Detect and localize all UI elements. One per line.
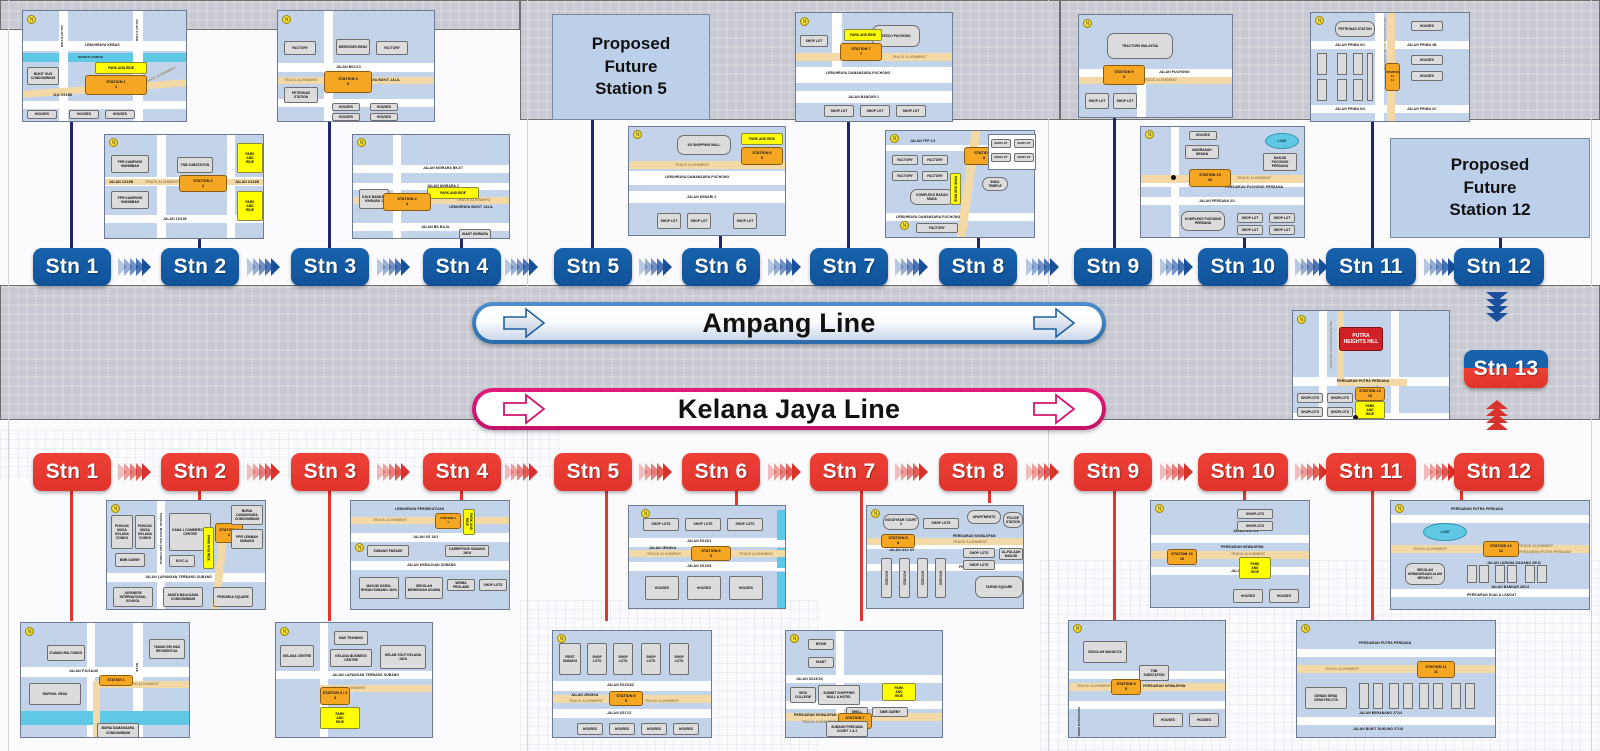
station-badge-top-4[interactable]: Stn 4 bbox=[423, 248, 501, 286]
drop-line-bottom-11 bbox=[1371, 491, 1374, 621]
map-panel-bottom-station-5[interactable]: JALAN SS15/4D JALAN JENGKA TRACK ALIGNME… bbox=[552, 630, 712, 738]
map-label: JALAN 3/116B bbox=[60, 25, 64, 47]
future-line-1: Proposed bbox=[592, 33, 670, 56]
future-line-2: Future bbox=[592, 56, 670, 79]
north-compass-icon: N bbox=[1297, 315, 1306, 324]
drop-line-top-4 bbox=[460, 239, 463, 248]
station-box: STATION 4 4 bbox=[383, 193, 431, 211]
column-separator-2 bbox=[1048, 0, 1049, 751]
map-label: PERSIARAN PUTRA PERDANA bbox=[1451, 507, 1503, 511]
houses-box: HOUSES bbox=[1189, 713, 1219, 727]
north-compass-icon: N bbox=[1315, 16, 1324, 25]
station-badge-top-7[interactable]: Stn 7 bbox=[810, 248, 888, 286]
drop-line-bottom-1 bbox=[70, 491, 73, 621]
shop-lot-box: SHOP LOT bbox=[896, 105, 926, 117]
future-line-2: Future bbox=[1449, 177, 1530, 200]
station-box: STATION 6 6 bbox=[691, 546, 731, 561]
map-label: TRACK ALIGNMENT bbox=[1077, 684, 1111, 688]
river-sungai bbox=[23, 53, 187, 62]
station-badge-top-10[interactable]: Stn 10 bbox=[1198, 248, 1288, 286]
north-compass-icon: N bbox=[355, 543, 364, 552]
building-box: KOMPLEKS RAKAN MUDA bbox=[910, 189, 954, 205]
map-label: TRACK ALIGNMENT bbox=[373, 518, 407, 522]
park-and-ride-box: PARK AND RIDE bbox=[463, 509, 475, 535]
lake-box: LAKE bbox=[1423, 523, 1467, 541]
station-number: 10 bbox=[1208, 178, 1212, 183]
shoplots-box: SHOPLOTS bbox=[1237, 509, 1273, 519]
factory-box: FACTORY bbox=[916, 223, 958, 233]
park-and-ride-box: PARK AND RIDE bbox=[882, 683, 916, 701]
drop-line-top-9 bbox=[1113, 118, 1116, 248]
north-compass-icon: N bbox=[790, 634, 799, 643]
north-compass-icon: N bbox=[890, 134, 899, 143]
ampang-line-banner[interactable]: Ampang Line bbox=[472, 302, 1106, 344]
map-label: TRACK ALIGNMENT bbox=[569, 699, 603, 703]
page-right-border bbox=[1591, 0, 1592, 751]
connector-chevrons-stn13-up bbox=[1486, 400, 1508, 428]
north-compass-icon: N bbox=[282, 15, 291, 24]
drop-line-top-10 bbox=[1243, 238, 1246, 248]
building-box: INDIA TEMPLE bbox=[982, 177, 1008, 191]
hill-line-2: HEIGHTS HILL bbox=[1344, 339, 1379, 345]
building-box: SEGI COLLEGE bbox=[790, 687, 816, 703]
station-badge-top-1[interactable]: Stn 1 bbox=[33, 248, 111, 286]
map-label: JALAN SS 18/1 bbox=[413, 535, 439, 539]
map-label: JALAN LAPANGAN TERBANG SUBANG bbox=[332, 673, 399, 677]
station-badge-bottom-10[interactable]: Stn 10 bbox=[1198, 453, 1288, 491]
station-number: 10 bbox=[1180, 557, 1184, 562]
building-box: KELANA CENTRE bbox=[280, 645, 314, 667]
north-compass-icon: N bbox=[25, 627, 34, 636]
shop-lot-box: SHOP LOT bbox=[991, 139, 1011, 148]
drop-line-bottom-7 bbox=[860, 491, 863, 621]
shop-lot-box: SHOP LOT bbox=[1014, 139, 1034, 148]
north-compass-icon: N bbox=[1395, 504, 1404, 513]
station-number: 9 bbox=[1125, 687, 1127, 692]
station-badge-bottom-3[interactable]: Stn 3 bbox=[291, 453, 369, 491]
houses-box: HOUSES bbox=[1411, 55, 1443, 65]
map-label: NKVE bbox=[135, 663, 139, 672]
shop-lots-box: SHOP LOTS bbox=[685, 518, 721, 531]
houses-box: HOUSES bbox=[370, 113, 398, 121]
map-label: JALAN KEMAJUAN SUBANG bbox=[407, 563, 456, 567]
station-label: STATION 1 bbox=[107, 678, 124, 682]
building-box: KOMPLEKS PUCHONG PERDANA bbox=[1181, 211, 1225, 231]
drop-line-top-8 bbox=[977, 238, 980, 248]
shop-lot-box: SHOP LOT bbox=[1269, 213, 1295, 223]
building-box: PEROMSA SQUARE bbox=[213, 587, 253, 607]
map-label: JALAN BANDAR 1 bbox=[848, 95, 879, 99]
map-label: PERSIARAN KEWAJIPAN bbox=[1221, 545, 1264, 549]
park-and-ride-box: PARK AND RIDE bbox=[741, 133, 783, 145]
map-label: TRACK ALIGNMENT bbox=[892, 55, 926, 59]
park-and-ride-box: PARK AND RIDE bbox=[1355, 401, 1385, 419]
station-box: STATION 7 7 bbox=[840, 43, 882, 61]
map-label: JALAN KINRARA BK2/7 bbox=[423, 166, 463, 170]
map-label: JALAN 1/116B bbox=[135, 19, 139, 41]
shop-lot-box: SHOP LOT bbox=[824, 105, 854, 117]
station-number: 13 bbox=[1368, 394, 1372, 399]
map-label: TRACK ALIGNMENT bbox=[953, 540, 987, 544]
station-badge-top-5[interactable]: Stn 5 bbox=[554, 248, 632, 286]
map-panel-top-station-2[interactable]: JALAN 4/116B TRACK ALIGNMENT JALAN 4/116… bbox=[104, 134, 264, 239]
drop-line-bottom-6 bbox=[735, 491, 738, 506]
right-arrow-icon bbox=[502, 392, 546, 426]
water-strip bbox=[777, 510, 786, 540]
factory-box: FACTORY bbox=[922, 155, 948, 165]
map-panel-station-13[interactable]: PERSIARAN PUTRA PERDANA PERSIARAN PUTRA … bbox=[1292, 310, 1450, 420]
future-line-3: Station 5 bbox=[592, 78, 670, 101]
map-label: JALAN 4/116B bbox=[235, 180, 259, 184]
map-label: TRACK ALIGNMENT bbox=[1325, 667, 1359, 671]
station-badge-bottom-2[interactable]: Stn 2 bbox=[161, 453, 239, 491]
connector-chevrons-top-1-2 bbox=[118, 258, 148, 276]
drop-line-top-5 bbox=[591, 120, 594, 248]
station-number: 3 bbox=[347, 82, 349, 87]
station-badge-bottom-9[interactable]: Stn 9 bbox=[1074, 453, 1152, 491]
building-box: RAPIDKL HEAD bbox=[29, 683, 81, 705]
map-label: JALAN KENARI 2 bbox=[687, 195, 716, 199]
building-box: GOODYEAR COURT 3 bbox=[883, 514, 919, 530]
junction-dot bbox=[1171, 175, 1176, 180]
map-label: LEBUHRAYA KEBAS bbox=[85, 43, 120, 47]
connector-chevrons-top-10-11 bbox=[1295, 258, 1325, 276]
building-box: B.P.C.A bbox=[169, 555, 195, 567]
houses-box: HOUSES bbox=[1189, 131, 1217, 140]
station-badge-interchange-13[interactable]: Stn 13 bbox=[1464, 350, 1548, 388]
building-box: KELAB GOLF KELANA JAYA bbox=[380, 645, 426, 669]
building-box: MADRASAH DEWAN bbox=[1185, 145, 1219, 159]
building-box: TAMAN SRI MAS RESIDENTIAL bbox=[149, 639, 185, 659]
north-compass-icon: N bbox=[109, 138, 118, 147]
building-box: MASJID PUCHONG PERDANA bbox=[1263, 153, 1297, 171]
station-badge-top-8[interactable]: Stn 8 bbox=[939, 248, 1017, 286]
building-box: AL-FALAAH MASJID bbox=[999, 548, 1023, 560]
park-and-ride-box: PARK AND RIDE bbox=[950, 173, 961, 205]
map-panel-top-station-1[interactable]: SUNGAI KEROH LEBUHRAYA KEBAS JALAN 3/116… bbox=[22, 10, 187, 122]
shop-lot-box: SHOP LOT bbox=[991, 153, 1011, 162]
map-label: TRACK ALIGNMENT bbox=[1231, 552, 1265, 556]
shop-lots-box: SHOP LOTS bbox=[587, 643, 607, 675]
shop-lot-box: SHOP LOT bbox=[1113, 93, 1137, 109]
connector-chevrons-stn12-stn13 bbox=[1486, 292, 1508, 320]
station-badge-top-2[interactable]: Stn 2 bbox=[161, 248, 239, 286]
connector-chevrons-bottom-6-7 bbox=[768, 463, 798, 481]
map-label: PERSIARAN PUCHONG PERDANA bbox=[1225, 185, 1283, 189]
right-arrow-icon bbox=[1032, 392, 1076, 426]
map-panel-bottom-station-12[interactable]: PERSIARAN PUTRA PERDANA TRACK ALIGNMENT … bbox=[1390, 500, 1590, 610]
lake-box: LAKE bbox=[1265, 133, 1299, 149]
water-strip bbox=[777, 572, 786, 608]
map-label: JALAN 15/155 bbox=[163, 217, 187, 221]
north-compass-icon: N bbox=[1155, 504, 1164, 513]
kelana-jaya-line-banner[interactable]: Kelana Jaya Line bbox=[472, 388, 1106, 430]
station-box: STATION 11 11 bbox=[1417, 661, 1455, 678]
shop-lot-box: SHOP LOT bbox=[1237, 213, 1263, 223]
map-panel-top-station-11[interactable]: JALAN PRIMA 6/1 JALAN PRIMA 2B JALAN PRI… bbox=[1310, 12, 1470, 122]
connector-chevrons-top-9-10 bbox=[1160, 258, 1190, 276]
shop-lot-box: SHOP LOT bbox=[687, 213, 711, 229]
map-label: JALAN USJ 6/7 bbox=[889, 548, 915, 552]
station-badge-bottom-11[interactable]: Stn 11 bbox=[1326, 453, 1416, 491]
map-panel-bottom-station-8[interactable]: PERSIARAN KEWAJIPAN TRACK ALIGNMENT JALA… bbox=[866, 505, 1024, 609]
map-label: TRACK ALIGNMENT bbox=[1413, 547, 1447, 551]
map-label: JALAN SS15/6 bbox=[687, 564, 712, 568]
map-panel-top-station-6[interactable]: TRACK ALIGNMENT LEBUHRAYA DAMANSARA PUCH… bbox=[628, 126, 786, 236]
map-label: JALAN PRIMA 3C bbox=[1407, 107, 1437, 111]
right-arrow-icon bbox=[1032, 306, 1076, 340]
map-panel-bottom-station-4[interactable]: LEBUHRAYA PERSEKUTUAN TRACK ALIGNMENT JA… bbox=[350, 500, 510, 610]
building-box: PPR KAMPUNG MUHIBBAH bbox=[111, 191, 149, 209]
station-box: STATION 4 4 bbox=[435, 513, 461, 529]
building-box: SIME DARBY bbox=[872, 707, 908, 717]
drop-line-bottom-9 bbox=[1113, 491, 1116, 621]
shop-lot-box: SHOP LOT bbox=[657, 213, 681, 229]
station-badge-top-12[interactable]: Stn 12 bbox=[1454, 248, 1544, 286]
building-box: SEKOLAH MENENGAH AGAMA bbox=[405, 577, 443, 599]
north-compass-icon: N bbox=[641, 509, 650, 518]
building-box: PUNCAK MUSA KELANA CONDO bbox=[135, 515, 155, 549]
station-badge-bottom-8[interactable]: Stn 8 bbox=[939, 453, 1017, 491]
shop-lot-box: SHOP LOT bbox=[733, 213, 757, 229]
map-panel-bottom-station-1[interactable]: JALAN PJU1A/46 TRACK ALIGNMENT NKVE D'AM… bbox=[20, 622, 190, 738]
station-badge-bottom-1[interactable]: Stn 1 bbox=[33, 453, 111, 491]
connector-chevrons-bottom-11-12 bbox=[1424, 463, 1454, 481]
map-label: PERSIARAN PUTRA PERDANA bbox=[1329, 321, 1333, 369]
factory-box: FACTORY bbox=[892, 171, 918, 181]
future-line-1: Proposed bbox=[1449, 154, 1530, 177]
station-badge-bottom-4[interactable]: Stn 4 bbox=[423, 453, 501, 491]
station-badge-top-9[interactable]: Stn 9 bbox=[1074, 248, 1152, 286]
station-number: 3 bbox=[334, 696, 336, 701]
building-box: BURIA DAMANSARA CONDOMINIUM bbox=[231, 505, 263, 525]
map-panel-top-future-station-5[interactable]: Proposed Future Station 5 bbox=[552, 14, 710, 120]
station-box: STATION 2 2 bbox=[179, 175, 227, 192]
park-and-ride-box: PARK AND RIDE bbox=[95, 62, 147, 74]
houses-box: HOUSES bbox=[1233, 589, 1263, 603]
map-label: TRACK ALIGNMENT bbox=[645, 699, 679, 703]
map-panel-bottom-station-11[interactable]: PERSIARAN PUTRA PERDANA TRACK ALIGNMENT … bbox=[1296, 620, 1496, 738]
building-box: AMATA BAULUANA CONDOMINIUM bbox=[163, 587, 203, 607]
building-box: IOI SHOPPING MALL bbox=[677, 135, 731, 155]
map-label: JALAN TPP 1/1 bbox=[910, 139, 936, 143]
station-badge-top-3[interactable]: Stn 3 bbox=[291, 248, 369, 286]
map-label: JALAN PJU1A/46 bbox=[69, 669, 98, 673]
station-box: STATION 10 10 bbox=[1167, 549, 1197, 565]
building-box: TAIPAN SQUARE bbox=[975, 576, 1023, 598]
right-arrow-icon bbox=[502, 306, 546, 340]
park-and-ride-box: PARK AND RIDE bbox=[427, 187, 479, 199]
station-box: STATION 11 11 bbox=[1385, 63, 1400, 91]
connector-chevrons-bottom-5-6 bbox=[639, 463, 669, 481]
park-and-ride-box: PARK AND RIDE bbox=[844, 29, 882, 41]
houses-box: HOUSES bbox=[1269, 589, 1299, 603]
station-box: STATION 6 6 bbox=[741, 147, 783, 165]
shop-lots-box: SHOP LOTS bbox=[613, 643, 633, 675]
drop-line-bottom-3 bbox=[328, 491, 331, 621]
map-label: SUNGAI KEROH bbox=[78, 55, 103, 59]
map-label: JALAN BERANANG 27/14 bbox=[1359, 711, 1402, 715]
houses-box: HOUSES bbox=[899, 558, 910, 598]
building-box: SEKOLAH MAHKOTA bbox=[1083, 641, 1127, 663]
map-label: PERSIARAN KEWAJIPAN bbox=[1143, 684, 1186, 688]
station-number: 1 bbox=[115, 85, 117, 90]
map-label: TRACK ALIGNMENT bbox=[675, 163, 709, 167]
building-box: GIANT KINRARA bbox=[459, 229, 491, 239]
building-box: TNB SUBSTATION bbox=[1139, 665, 1169, 681]
park-and-ride-box: PARK AND RIDE bbox=[1239, 557, 1271, 579]
map-label: PERSIARAN KEWAJIPAN bbox=[953, 534, 996, 538]
drop-line-top-1 bbox=[70, 122, 73, 248]
shop-lots-box: SHOP LOTS bbox=[479, 579, 507, 591]
map-panel-bottom-station-9[interactable]: TRACK ALIGNMENT PERSIARAN KEWAJIPAN PERS… bbox=[1068, 620, 1226, 738]
map-label: PERSIARAN PUTRA PERDANA bbox=[1519, 550, 1571, 554]
map-panel-bottom-station-6[interactable]: JALAN SS15/1 JALAN JENGKA TRACK ALIGNMEN… bbox=[628, 505, 786, 609]
connector-chevrons-top-6-7 bbox=[768, 258, 798, 276]
station-badge-top-11[interactable]: Stn 11 bbox=[1326, 248, 1416, 286]
station-badge-bottom-12[interactable]: Stn 12 bbox=[1454, 453, 1544, 491]
station-badge-bottom-5[interactable]: Stn 5 bbox=[554, 453, 632, 491]
connector-chevrons-bottom-8-9 bbox=[1026, 463, 1056, 481]
north-compass-icon: N bbox=[27, 15, 36, 24]
station-box: STATION 13 13 bbox=[1355, 387, 1385, 401]
connector-chevrons-bottom-10-11 bbox=[1295, 463, 1325, 481]
shop-lot-box: SHOP LOT bbox=[1269, 225, 1295, 235]
building-box: TRACTORS MALAYSIA bbox=[1107, 33, 1173, 59]
map-label: TRACK ALIGNMENT bbox=[145, 180, 179, 184]
map-panel-top-station-7[interactable]: TRACK ALIGNMENT LEBUHRAYA DAMANSARA PUCH… bbox=[795, 12, 953, 122]
column-separator-1 bbox=[527, 0, 528, 751]
building-box: SUMMIT SHOPPING MALL & HOTEL bbox=[818, 685, 860, 705]
north-compass-icon: N bbox=[1301, 624, 1310, 633]
park-and-ride-box: PARK AND RIDE bbox=[237, 191, 263, 221]
map-label: LEBUHRAYA BUKIT JALIL bbox=[449, 205, 493, 209]
shoplots-box: SHOPLOTS bbox=[1297, 407, 1323, 417]
map-panel-top-station-10[interactable]: TRACK ALIGNMENT PERSIARAN PUCHONG PERDAN… bbox=[1140, 126, 1305, 238]
page-left-border bbox=[8, 0, 9, 751]
future-line-3: Station 12 bbox=[1449, 199, 1530, 222]
station-box: STATION 1 bbox=[99, 675, 133, 686]
map-label: JALAN SS15/1K bbox=[796, 677, 823, 681]
connector-chevrons-top-11-12 bbox=[1424, 258, 1454, 276]
map-panel-bottom-station-7[interactable]: JALAN SS15/1K PERSIARAN KEWAJIPAN TRACK … bbox=[785, 630, 943, 738]
building-box: SUBANG PERDANA COURT 1 & 2 bbox=[826, 721, 868, 737]
map-label: PERSIARAN KUALA LANGAT bbox=[1467, 593, 1516, 597]
houses-box: HOUSES bbox=[641, 723, 667, 735]
map-panel-bottom-station-2[interactable]: JALAN LAPANGAN TERBANG SUBANG PUNCAK MUS… bbox=[106, 500, 266, 610]
station-box: STATION 2 / 3 3 bbox=[320, 687, 350, 705]
station-box: STATION 9 9 bbox=[1103, 65, 1145, 85]
junction-dot bbox=[1353, 415, 1358, 420]
north-compass-icon: N bbox=[900, 221, 909, 230]
map-label: TRACK ALIGNMENT bbox=[284, 78, 318, 82]
map-label: JALAN PUCHONG bbox=[1159, 70, 1190, 74]
station-badge-top-6[interactable]: Stn 6 bbox=[682, 248, 760, 286]
map-label: JALAN JENGKA bbox=[649, 546, 676, 550]
north-compass-icon: N bbox=[871, 509, 880, 518]
houses-box: HOUSES bbox=[935, 558, 946, 598]
houses-box: HOUSES bbox=[27, 110, 57, 119]
station-box: STATION 9 9 bbox=[1111, 679, 1141, 695]
building-box: MYDIN bbox=[808, 639, 834, 650]
station-number: 2 bbox=[202, 184, 204, 189]
hill-box: PUTRA HEIGHTS HILL bbox=[1339, 327, 1383, 351]
houses-box: HOUSES bbox=[332, 113, 360, 121]
map-panel-bottom-station-10[interactable]: JALAN USJ 2/2 TRACK ALIGNMENT PERSIARAN … bbox=[1150, 500, 1310, 608]
station-number: 8 bbox=[983, 156, 985, 161]
kelana-jaya-line-label: Kelana Jaya Line bbox=[678, 394, 900, 425]
station-number: 7 bbox=[860, 52, 862, 57]
drop-line-top-7 bbox=[847, 122, 850, 248]
map-label: TRACK ALIGNMENT bbox=[1237, 176, 1271, 180]
shop-lot-box: SHOP LOT bbox=[800, 35, 828, 47]
connector-chevrons-top-5-6 bbox=[639, 258, 669, 276]
houses-box: HOUSES bbox=[1411, 21, 1443, 31]
building-box: PETRONAS STATION bbox=[284, 87, 318, 103]
map-panel-top-station-8-inset[interactable]: SHOP LOT SHOP LOT SHOP LOT SHOP LOT bbox=[988, 134, 1036, 170]
map-label: JALAN PRIMA 6/1 bbox=[1335, 43, 1365, 47]
station-number: 4 bbox=[447, 521, 449, 525]
houses-box: HOUSES bbox=[370, 103, 398, 111]
shop-lots-box: SHOP LOTS bbox=[963, 560, 995, 570]
building-box: WISMA PROLABS bbox=[447, 579, 475, 591]
map-label: TRACK ALIGNMENT bbox=[1143, 78, 1177, 82]
station-box: STATION 8 8 bbox=[881, 534, 915, 548]
map-label: JALAN BK1/13 bbox=[336, 65, 361, 69]
station-number: 2 bbox=[228, 533, 230, 538]
connector-chevrons-bottom-3-4 bbox=[377, 463, 407, 481]
station-box: STATION 1 1 bbox=[85, 75, 147, 95]
connector-chevrons-bottom-9-10 bbox=[1160, 463, 1190, 481]
station-number: 6 bbox=[761, 156, 763, 161]
building-box: PUNCAK MUSA KELANA CONDO bbox=[111, 515, 133, 549]
north-compass-icon: N bbox=[111, 504, 120, 513]
station-box: STATION 12 12 bbox=[1483, 541, 1519, 557]
drop-line-top-6 bbox=[719, 236, 722, 248]
map-label: PERSIARAN KEWAJIPAN bbox=[1077, 707, 1081, 738]
park-and-ride-box: PARK AND RIDE bbox=[203, 527, 214, 569]
shop-lot-box: SHOP LOT bbox=[1014, 153, 1034, 162]
station-number: 11 bbox=[1391, 79, 1394, 83]
shop-lots-box: SHOP LOTS bbox=[643, 518, 679, 531]
houses-box: HOUSES bbox=[645, 576, 679, 600]
map-panel-bottom-station-3[interactable]: JALAN LAPANGAN TERBANG SUBANG TRACK ALIG… bbox=[275, 622, 433, 738]
park-and-ride-box: PARK AND RIDE bbox=[237, 143, 263, 173]
ampang-line-label: Ampang Line bbox=[702, 308, 875, 339]
drop-line-top-3 bbox=[328, 122, 331, 248]
station-badge-bottom-7[interactable]: Stn 7 bbox=[810, 453, 888, 491]
station-number: 12 bbox=[1499, 549, 1503, 554]
map-panel-top-station-3[interactable]: TRACK ALIGNMENT JALAN BK1/13 LEBUHRAYA B… bbox=[277, 10, 435, 122]
shop-lots-box: SHOP LOTS bbox=[641, 643, 661, 675]
station-box: STATION 3 3 bbox=[324, 71, 372, 93]
station-badge-bottom-6[interactable]: Stn 6 bbox=[682, 453, 760, 491]
map-panel-top-future-station-12[interactable]: Proposed Future Station 12 bbox=[1390, 138, 1590, 238]
north-compass-icon: N bbox=[633, 130, 642, 139]
building-box: BMB DARBY bbox=[115, 553, 145, 567]
houses-box: HOUSES bbox=[673, 723, 699, 735]
building-box: FIRST SUBANG bbox=[559, 643, 581, 675]
drop-line-top-11 bbox=[1371, 122, 1374, 248]
map-label: JALAN PRIMA 6/3 bbox=[1335, 107, 1365, 111]
drop-line-top-12 bbox=[1499, 238, 1502, 248]
map-panel-top-station-9[interactable]: JALAN PUCHONG TRACK ALIGNMENT TRACTORS M… bbox=[1078, 14, 1233, 118]
shop-lot-box: SHOP LOT bbox=[1237, 225, 1263, 235]
station-number: 4 bbox=[406, 202, 408, 207]
houses-box: HOUSES bbox=[577, 723, 603, 735]
station-box: STATION 10 10 bbox=[1189, 169, 1231, 187]
map-panel-top-station-4[interactable]: JALAN KINRARA BK2/7 JALAN KINRARA 2 TRAC… bbox=[352, 134, 510, 239]
